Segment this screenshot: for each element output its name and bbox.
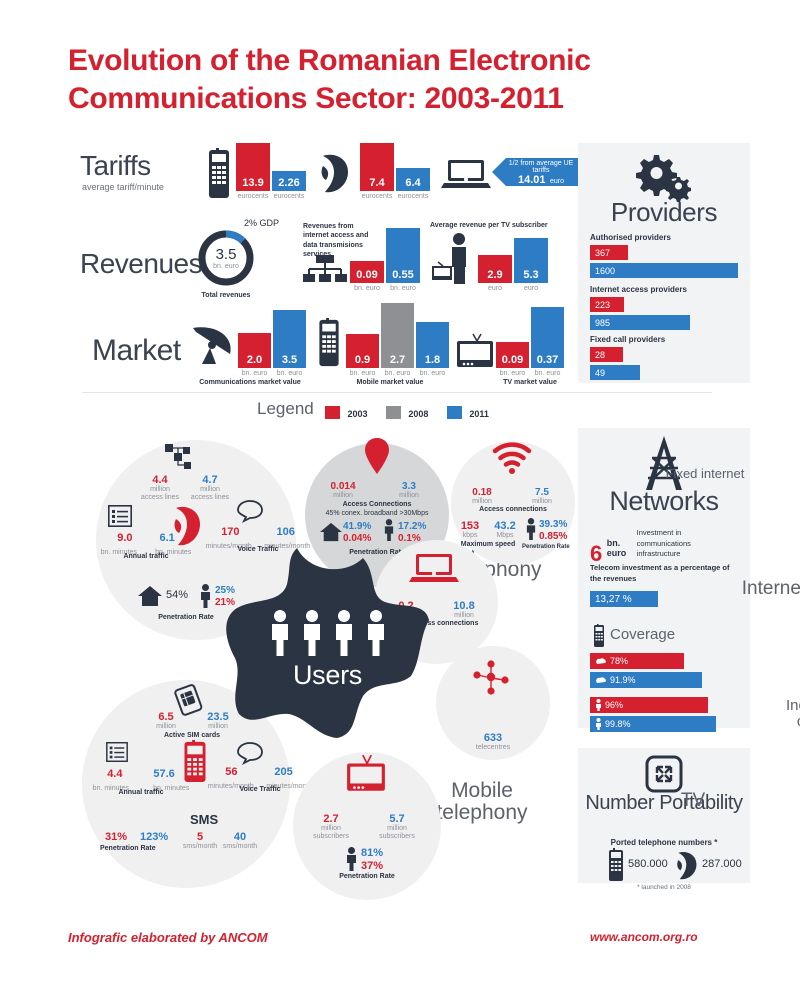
market-mobile-2008-unit: bn. euro	[381, 370, 414, 378]
fixed-internet-broadband-note: 45% conex. broadband >30Mbps	[300, 510, 454, 518]
handset-icon	[674, 850, 700, 882]
tariff-fixed-2003-bar: 7.4	[360, 143, 394, 191]
fixed-telephony-lines-2011-value: 4.7	[185, 474, 235, 486]
person-tv-icon	[432, 232, 476, 284]
tv-2003-value: 2.7	[300, 813, 362, 825]
panel-providers: Providers Authorised providers 367 1600 …	[578, 143, 750, 383]
mobile-sms-2011-unit: sms/month	[222, 843, 258, 851]
tariff-mobile-2011-unit: eurocents	[272, 193, 306, 201]
users-label: Users	[225, 660, 430, 691]
providers-internet-2011-bar: 985	[590, 315, 690, 330]
list-icon	[108, 505, 132, 527]
market-comm-2011-unit: bn. euro	[273, 370, 306, 378]
tv-2003-unit2: subscribers	[300, 833, 362, 841]
providers-group-2-label: Fixed call providers	[590, 335, 740, 344]
tv-icon	[455, 333, 495, 369]
tv-2011-unit1: million	[366, 825, 428, 833]
circle-rural-title-1: Increased rural	[436, 697, 800, 714]
territory-icon	[595, 657, 607, 665]
providers-fixedcall-2011-bar: 49	[590, 365, 640, 380]
fixed-internet-conn-2011-unit: million	[376, 492, 442, 500]
territory-icon	[595, 676, 607, 684]
fixed-telephony-lines-2003-unit2: access lines	[135, 494, 185, 502]
person-icon	[345, 847, 358, 871]
mobile-internet-speed-2003-value: 153	[452, 520, 488, 532]
people-icon	[268, 610, 388, 656]
laptop-icon	[442, 158, 490, 190]
mobile-sms-2011-value: 40	[222, 831, 258, 843]
portability-fixed-value: 287.000	[702, 858, 742, 870]
network-tree-icon	[303, 255, 347, 283]
legend-swatch-2011	[447, 406, 462, 419]
mobile-phone-icon	[606, 848, 626, 882]
circle-mobile-internet-title: Mobile internet	[451, 473, 800, 488]
fixed-internet-penetration-household-2003: 0.04%	[343, 533, 371, 544]
circle-tv-title: TV	[293, 790, 800, 812]
mobile-internet-speed-2011-unit: Mbps	[487, 532, 523, 540]
mobile-penetration-2003: 31%	[105, 831, 127, 843]
providers-authorised-2011-bar: 1600	[590, 263, 738, 278]
market-tv-2003-unit: bn. euro	[496, 370, 529, 378]
tariff-fixed-2011-unit: eurocents	[396, 193, 430, 201]
market-tv-caption: TV market value	[470, 379, 590, 387]
gears-icon	[632, 153, 694, 199]
legend-year-2003: 2003	[347, 409, 367, 419]
providers-internet-2003-bar: 223	[590, 297, 624, 312]
revenues-total-unit: bn. euro	[196, 263, 256, 271]
fixed-internet-conn-2011-value: 3.3	[376, 481, 442, 492]
mobile-internet-penetration-caption: Penetration Rate	[522, 544, 570, 551]
revenues-tv-2011-bar: 5.3	[514, 238, 548, 283]
revenues-tv-2011-unit: euro	[514, 285, 548, 293]
revenues-gdp-badge: 2% GDP	[244, 218, 279, 228]
revenues-tv-2003-unit: euro	[478, 285, 512, 293]
portability-subtitle: Ported telephone numbers *	[578, 838, 750, 847]
wifi-icon	[492, 445, 532, 473]
person-icon	[199, 584, 212, 608]
mobile-internet-speed-2011-value: 43.2	[487, 520, 523, 532]
tariff-internet-callout-value: 14.01	[518, 174, 546, 186]
tv-icon	[345, 755, 387, 793]
mobile-penetration-caption: Penetration Rate	[100, 845, 156, 853]
circle-internet-title: Internet	[374, 578, 800, 600]
tariff-mobile-2003-unit: eurocents	[236, 193, 270, 201]
mobile-internet-penetration-2003: 0.85%	[539, 531, 567, 542]
revenues-tv-heading: Average revenue per TV subscriber	[430, 222, 550, 229]
portability-footnote: * launched in 2008	[578, 884, 750, 891]
providers-group-0-label: Authorised providers	[590, 233, 740, 242]
network-tree-icon	[165, 444, 195, 472]
person-icon	[525, 518, 537, 540]
mobile-sim-2003-unit: million	[140, 723, 192, 731]
market-comm-2003-bar: 2.0	[238, 333, 271, 368]
market-mobile-2008-bar: 2.7	[381, 303, 414, 368]
nodes-icon	[466, 658, 516, 698]
fixed-telephony-penetration-household: 54%	[166, 589, 188, 601]
internet-2011-unit: million	[436, 612, 492, 620]
revenues-total-caption: Total revenues	[186, 292, 266, 300]
legend-swatch-2008	[386, 406, 401, 419]
footer-website[interactable]: www.ancom.org.ro	[590, 930, 698, 944]
market-comm-2011-bar: 3.5	[273, 310, 306, 368]
providers-group-1-label: Internet access providers	[590, 285, 740, 294]
revenues-internet-2003-unit: bn. euro	[350, 285, 384, 293]
mobile-phone-icon	[314, 318, 344, 368]
networks-coverage-territory-2003: 78%	[610, 656, 628, 666]
mobile-phone-icon	[204, 148, 234, 200]
house-icon	[319, 522, 343, 542]
legend-year-2011: 2011	[469, 409, 489, 419]
providers-authorised-2003-bar: 367	[590, 245, 628, 260]
fixed-telephony-lines-2011-unit1: million	[185, 486, 235, 494]
page-title: Evolution of the Romanian Electronic Com…	[68, 42, 668, 118]
speech-bubble-icon	[237, 500, 263, 522]
person-icon	[383, 519, 395, 541]
tv-penetration-2011: 81%	[361, 847, 383, 859]
section-title-tariffs: Tariffs	[80, 150, 151, 182]
market-mobile-2011-bar: 1.8	[416, 322, 449, 368]
section-title-revenues: Revenues	[80, 248, 202, 280]
mobile-internet-conn-2003-unit: million	[452, 498, 512, 506]
tariff-internet-callout-unit: euro	[550, 178, 564, 185]
mobile-sms-2003-unit: sms/month	[182, 843, 218, 851]
mobile-internet-conn-2003-value: 0.18	[452, 487, 512, 498]
tariff-fixed-2011-bar: 6.4	[396, 168, 430, 191]
satellite-dish-icon	[190, 320, 238, 368]
handset-icon	[318, 152, 352, 196]
fixed-internet-conn-2003-unit: million	[310, 492, 376, 500]
section-subtitle-tariffs: average tariff/minute	[82, 182, 164, 192]
tv-2011-unit2: subscribers	[366, 833, 428, 841]
fixed-telephony-penetration-caption: Penetration Rate	[136, 614, 236, 622]
market-comm-2003-unit: bn. euro	[238, 370, 271, 378]
networks-coverage-label: Coverage	[610, 626, 675, 643]
market-mobile-2011-unit: bn. euro	[416, 370, 449, 378]
portability-mobile-value: 580.000	[628, 858, 668, 870]
tv-2011-value: 5.7	[366, 813, 428, 825]
revenues-total-value: 3.5	[196, 246, 256, 263]
house-icon	[137, 585, 163, 607]
mobile-sms-2003-value: 5	[182, 831, 218, 843]
tariff-mobile-2003-bar: 13.9	[236, 143, 270, 191]
revenues-internet-2011-unit: bn. euro	[386, 285, 420, 293]
mobile-sim-2003-value: 6.5	[140, 711, 192, 723]
fixed-telephony-lines-2003-value: 4.4	[135, 474, 185, 486]
internet-2011-value: 10.8	[436, 600, 492, 612]
mobile-penetration-2011: 123%	[140, 831, 168, 843]
fixed-internet-penetration-household-2011: 41.9%	[343, 521, 371, 532]
market-mobile-2003-unit: bn. euro	[346, 370, 379, 378]
mobile-phone-icon	[592, 624, 606, 648]
mobile-internet-penetration-2011: 39.3%	[539, 519, 567, 530]
revenues-internet-2003-bar: 0.09	[350, 261, 384, 283]
mobile-internet-conn-2011-value: 7.5	[512, 487, 572, 498]
circle-rural-title-2: connectivity	[436, 713, 800, 730]
tv-penetration-2003: 37%	[361, 860, 383, 872]
rural-unit: telecentres	[436, 744, 550, 752]
tariff-mobile-2011-bar: 2.26	[272, 171, 306, 191]
tv-2003-unit1: million	[300, 825, 362, 833]
market-tv-2011-bar: 0.37	[531, 307, 564, 368]
section-title-market: Market	[92, 334, 181, 368]
market-tv-2003-bar: 0.09	[496, 342, 529, 368]
speech-bubble-icon	[237, 742, 263, 764]
infographic-page: Evolution of the Romanian Electronic Com…	[0, 0, 800, 992]
legend: Legend 2003 2008 2011	[82, 392, 712, 422]
fixed-telephony-lines-2003-unit1: million	[135, 486, 185, 494]
sim-card-icon	[172, 684, 204, 714]
fixed-internet-conn-2003-value: 0.014	[310, 481, 376, 492]
revenues-tv-2003-bar: 2.9	[478, 255, 512, 283]
tv-penetration-caption: Penetration Rate	[293, 873, 441, 881]
mobile-internet-conn-caption: Access connections	[451, 506, 575, 514]
market-tv-2011-unit: bn. euro	[531, 370, 564, 378]
market-comm-caption: Communications market value	[190, 379, 310, 387]
market-mobile-2003-bar: 0.9	[346, 334, 379, 368]
mobile-sms-label: SMS	[190, 812, 218, 827]
legend-year-2008: 2008	[408, 409, 428, 419]
providers-fixedcall-2003-bar: 28	[590, 347, 623, 362]
revenues-internet-2011-bar: 0.55	[386, 228, 420, 283]
fixed-internet-penetration-person-2011: 17.2%	[398, 521, 426, 532]
market-mobile-caption: Mobile market value	[330, 379, 450, 387]
list-icon	[106, 742, 128, 762]
legend-label: Legend	[257, 399, 314, 419]
fixed-telephony-lines-2011-unit2: access lines	[185, 494, 235, 502]
providers-title: Providers	[578, 197, 750, 228]
fixed-internet-conn-caption: Access Connections	[305, 501, 449, 509]
rural-value: 633	[436, 732, 550, 744]
tariff-fixed-2003-unit: eurocents	[360, 193, 394, 201]
mobile-internet-conn-2011-unit: million	[512, 498, 572, 506]
mobile-internet-speed-2003-unit: kbps	[452, 532, 488, 540]
legend-swatch-2003	[325, 406, 340, 419]
networks-coverage-territory-2011: 91.9%	[610, 675, 636, 685]
footer-credit: Infografic elaborated by ANCOM	[68, 930, 268, 945]
